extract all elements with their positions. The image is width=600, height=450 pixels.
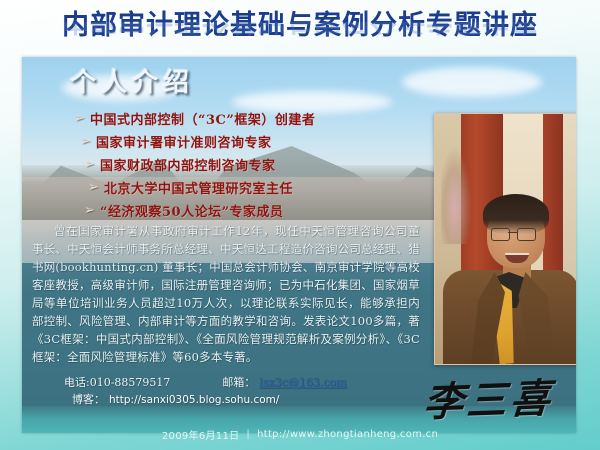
arrow-bullet-icon: ➢ — [74, 112, 90, 125]
contact-row: 电话:010-88579517 邮箱： lsx3c@163.com — [64, 374, 404, 390]
footer-url[interactable]: http://www.zhongtianheng.com.cn — [257, 429, 438, 440]
blog-link[interactable]: http://sanxi0305.blog.sohu.com/ — [109, 394, 279, 406]
portrait-photo — [434, 113, 576, 365]
biography-paragraph: 曾在国家审计署从事政府审计工作12年，现任中天恒管理咨询公司董事长、中天恒会计师… — [32, 222, 420, 366]
blog-row: 博客： http://sanxi0305.blog.sohu.com/ — [72, 391, 279, 407]
footer-separator: | — [246, 429, 250, 440]
list-item-label: “经济观察50人论坛”专家成员 — [100, 201, 284, 220]
list-item: ➢ 国家财政部内部控制咨询专家 — [84, 153, 404, 176]
list-item-label: 国家财政部内部控制咨询专家 — [100, 155, 276, 174]
footer-date: 2009年6月11日 — [162, 427, 240, 442]
presentation-slide: 内部审计理论基础与案例分析专题讲座 内部审计理论基础与案例分析专题讲座 个人介绍… — [0, 0, 600, 450]
slide-title-reflection: 内部审计理论基础与案例分析专题讲座 — [0, 22, 600, 40]
photo-person-glasses — [517, 228, 536, 241]
photo-person-glasses — [491, 228, 510, 241]
list-item: ➢ 国家审计署审计准则咨询专家 — [80, 130, 404, 153]
slide-footer: 2009年6月11日 | http://www.zhongtianheng.co… — [0, 427, 600, 442]
list-item-label: 国家审计署审计准则咨询专家 — [96, 132, 272, 151]
list-item: ➢ 北京大学中国式管理研究室主任 — [88, 176, 404, 199]
credentials-list: ➢ 中国式内部控制（“3C”框架）创建者 ➢ 国家审计署审计准则咨询专家 ➢ 国… — [74, 107, 404, 222]
photo-person-glasses-bridge — [508, 232, 517, 233]
blog-label: 博客： — [72, 391, 105, 407]
arrow-bullet-icon: ➢ — [80, 135, 96, 148]
list-item-label: 中国式内部控制（“3C”框架）创建者 — [90, 109, 315, 128]
phone-text: 电话:010-88579517 — [64, 374, 170, 390]
photo-background-plant — [441, 148, 471, 244]
email-label: 邮箱： — [222, 374, 255, 390]
cloud-shape — [402, 67, 542, 97]
arrow-bullet-icon: ➢ — [84, 204, 100, 217]
list-item: ➢ 中国式内部控制（“3C”框架）创建者 — [74, 107, 404, 130]
arrow-bullet-icon: ➢ — [88, 181, 104, 194]
arrow-bullet-icon: ➢ — [84, 158, 100, 171]
email-link[interactable]: lsx3c@163.com — [259, 376, 346, 389]
list-item: ➢ “经济观察50人论坛”专家成员 — [84, 199, 404, 222]
list-item-label: 北京大学中国式管理研究室主任 — [104, 178, 293, 197]
section-heading: 个人介绍 — [70, 62, 194, 99]
signature-name: 李三喜 — [422, 366, 555, 428]
